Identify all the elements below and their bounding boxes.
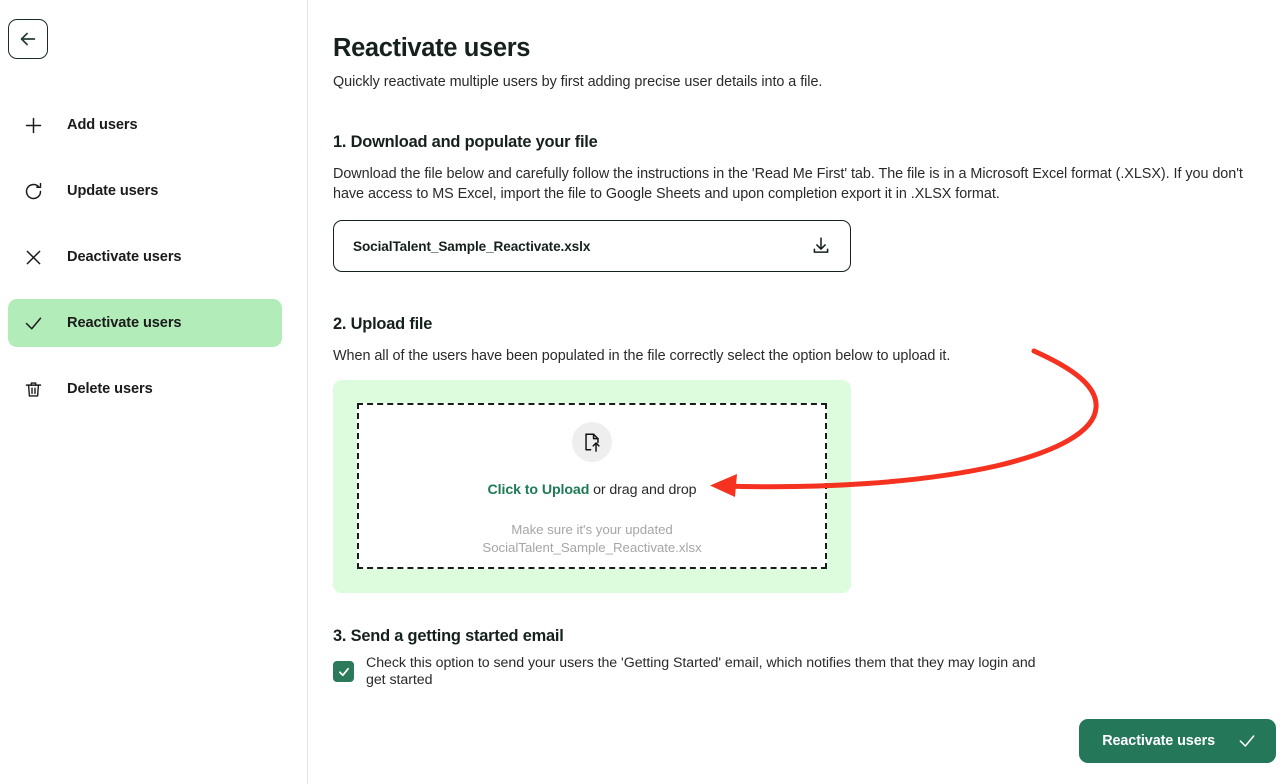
download-icon[interactable]: [810, 235, 832, 257]
upload-hint-line-1: Make sure it's your updated: [482, 521, 701, 539]
drag-and-drop-text: or drag and drop: [589, 482, 696, 498]
sidebar-nav: Add users Update users: [8, 101, 282, 431]
check-icon: [1237, 731, 1257, 751]
sidebar-item-delete-users[interactable]: Delete users: [8, 365, 282, 413]
refresh-icon: [22, 180, 44, 202]
click-to-upload-link[interactable]: Click to Upload: [488, 482, 590, 498]
main-content: Reactivate users Quickly reactivate mult…: [308, 0, 1288, 784]
step-1-heading: 1. Download and populate your file: [333, 133, 598, 152]
step-1-description: Download the file below and carefully fo…: [333, 164, 1263, 204]
sidebar: Add users Update users: [0, 0, 308, 784]
arrow-left-icon: [17, 28, 39, 50]
upload-hint-line-2: SocialTalent_Sample_Reactivate.xlsx: [482, 539, 701, 557]
trash-icon: [22, 378, 44, 400]
download-file-box[interactable]: SocialTalent_Sample_Reactivate.xslx: [333, 220, 851, 272]
upload-hint-text: Make sure it's your updated SocialTalent…: [482, 521, 701, 557]
download-file-name: SocialTalent_Sample_Reactivate.xslx: [353, 239, 590, 254]
file-upload-icon: [572, 422, 612, 462]
reactivate-users-button-label: Reactivate users: [1102, 733, 1215, 749]
sidebar-item-label: Update users: [67, 183, 158, 199]
sidebar-item-label: Reactivate users: [67, 315, 181, 331]
sidebar-item-reactivate-users[interactable]: Reactivate users: [8, 299, 282, 347]
plus-icon: [22, 114, 44, 136]
getting-started-email-row: Check this option to send your users the…: [333, 655, 1053, 689]
back-button[interactable]: [8, 19, 48, 59]
page-subtitle: Quickly reactivate multiple users by fir…: [333, 74, 822, 90]
step-2-heading: 2. Upload file: [333, 315, 432, 334]
getting-started-email-checkbox[interactable]: [333, 661, 354, 682]
sidebar-item-add-users[interactable]: Add users: [8, 101, 282, 149]
step-3-heading: 3. Send a getting started email: [333, 627, 564, 646]
check-icon: [22, 312, 44, 334]
sidebar-item-deactivate-users[interactable]: Deactivate users: [8, 233, 282, 281]
close-x-icon: [22, 246, 44, 268]
app-root: Add users Update users: [0, 0, 1288, 784]
getting-started-email-label: Check this option to send your users the…: [366, 655, 1053, 689]
step-2-description: When all of the users have been populate…: [333, 346, 1133, 366]
upload-primary-text: Click to Upload or drag and drop: [488, 482, 697, 498]
upload-dropzone[interactable]: Click to Upload or drag and drop Make su…: [357, 403, 827, 569]
sidebar-item-label: Delete users: [67, 381, 153, 397]
sidebar-item-update-users[interactable]: Update users: [8, 167, 282, 215]
sidebar-item-label: Add users: [67, 117, 137, 133]
sidebar-item-label: Deactivate users: [67, 249, 181, 265]
upload-dropzone-panel: Click to Upload or drag and drop Make su…: [333, 380, 851, 593]
reactivate-users-button[interactable]: Reactivate users: [1079, 719, 1276, 763]
page-title: Reactivate users: [333, 34, 530, 63]
